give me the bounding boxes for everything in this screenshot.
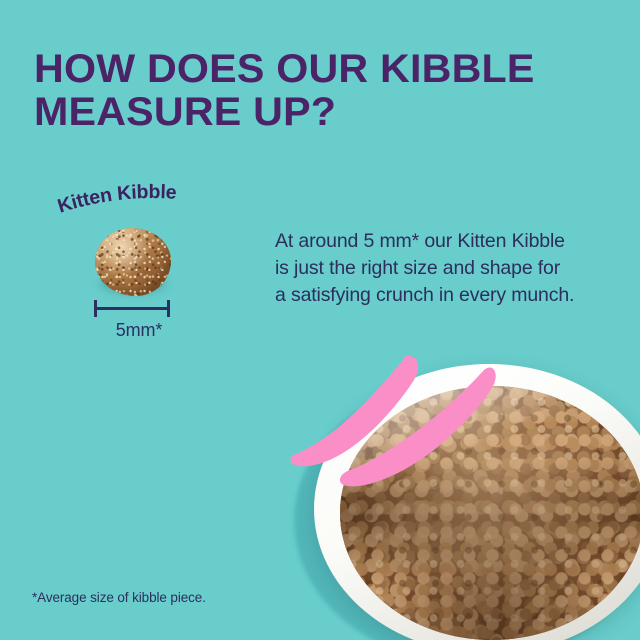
pink-brush-stroke: [288, 352, 498, 492]
kibble-label: Kitten Kibble: [58, 186, 228, 220]
kibble-piece: [95, 228, 171, 296]
body-paragraph: At around 5 mm* our Kitten Kibble is jus…: [275, 228, 620, 309]
body-line-2: is just the right size and shape for: [275, 255, 620, 282]
kibble-label-tspan: Kitten Kibble: [55, 181, 177, 218]
promo-card: HOW DOES OUR KIBBLE MEASURE UP? Kitten K…: [0, 0, 640, 640]
ruler-line: [94, 307, 170, 310]
headline-line-1: HOW DOES OUR KIBBLE: [34, 48, 570, 91]
measurement-caption: 5mm*: [94, 320, 184, 341]
body-line-1: At around 5 mm* our Kitten Kibble: [275, 228, 620, 255]
body-line-3: a satisfying crunch in every munch.: [275, 282, 620, 309]
footnote: *Average size of kibble piece.: [32, 590, 206, 605]
ruler-cap-right: [167, 300, 170, 317]
measurement-ruler-icon: [94, 300, 170, 316]
page-title: HOW DOES OUR KIBBLE MEASURE UP?: [34, 48, 570, 134]
kibble-piece-illustration: [92, 228, 176, 300]
kibble-label-text: Kitten Kibble: [55, 181, 177, 218]
headline-line-2: MEASURE UP?: [34, 91, 570, 134]
